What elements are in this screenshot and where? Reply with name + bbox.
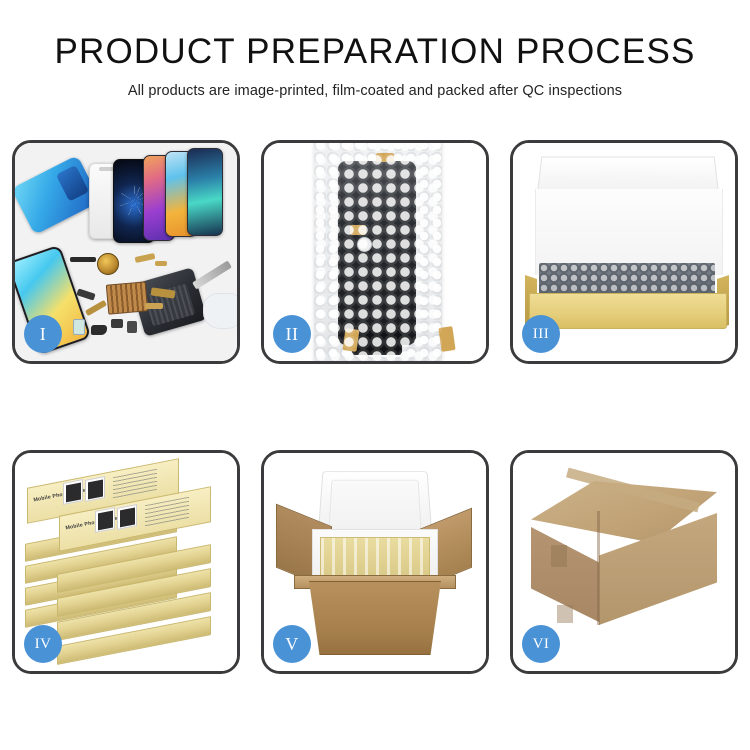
- camera-module-part: [91, 325, 107, 335]
- step-numeral-3: III: [533, 326, 550, 343]
- ic-chip-part: [111, 319, 123, 328]
- step-numeral-4: IV: [35, 636, 52, 653]
- step-numeral-6: VI: [533, 636, 550, 653]
- gloved-hand: [203, 293, 237, 329]
- speaker-coil-part: [97, 253, 119, 275]
- step-panel-4[interactable]: Mobile Phone Spare Parts Mobile Phone Sp…: [12, 450, 240, 674]
- box-screen-image-1: [63, 479, 83, 505]
- carton-tape-tab-2: [557, 605, 573, 623]
- flex-cable-part-7: [145, 303, 163, 309]
- step-panel-6[interactable]: VI: [510, 450, 738, 674]
- camera-cutout: [357, 237, 372, 252]
- bubble-wrap-bag: [314, 143, 442, 361]
- box-screen-image-4: [117, 504, 137, 530]
- box-screen-image-3: [95, 507, 115, 533]
- step-panel-3[interactable]: III: [510, 140, 738, 364]
- box-screen-image-2: [85, 476, 105, 502]
- step-numeral-1: I: [40, 324, 47, 345]
- wrapped-lcd-screen: [338, 161, 416, 345]
- carton-corner-seam: [597, 511, 600, 625]
- flex-cable-part-3: [155, 261, 167, 266]
- vibrator-part: [127, 321, 137, 333]
- carton-tape-tab-1: [551, 545, 567, 567]
- connector-board-part: [106, 281, 148, 314]
- tape-strip-2: [350, 225, 366, 235]
- flex-cable-part-1: [70, 257, 96, 262]
- page-title: PRODUCT PREPARATION PROCESS: [0, 34, 750, 71]
- step-panel-2[interactable]: II: [261, 140, 489, 364]
- step-badge-3: III: [522, 315, 560, 353]
- step-panel-5[interactable]: V: [261, 450, 489, 674]
- inner-box-front-panel: [529, 293, 727, 329]
- step-badge-4: IV: [24, 625, 62, 663]
- step-badge-5: V: [273, 625, 311, 663]
- battery-part: [73, 319, 85, 335]
- tape-strip-1: [376, 153, 394, 162]
- step-numeral-2: II: [286, 324, 299, 345]
- page-subtitle: All products are image-printed, film-coa…: [0, 83, 750, 99]
- carton-body: [300, 581, 450, 655]
- step-numeral-5: V: [285, 634, 299, 655]
- step-badge-1: I: [24, 315, 62, 353]
- step-badge-6: VI: [522, 625, 560, 663]
- step-badge-2: II: [273, 315, 311, 353]
- step-panel-1[interactable]: I: [12, 140, 240, 364]
- teal-gradient-phone: [187, 148, 223, 236]
- process-steps-grid: I II: [12, 140, 738, 674]
- page-header: PRODUCT PREPARATION PROCESS All products…: [0, 0, 750, 99]
